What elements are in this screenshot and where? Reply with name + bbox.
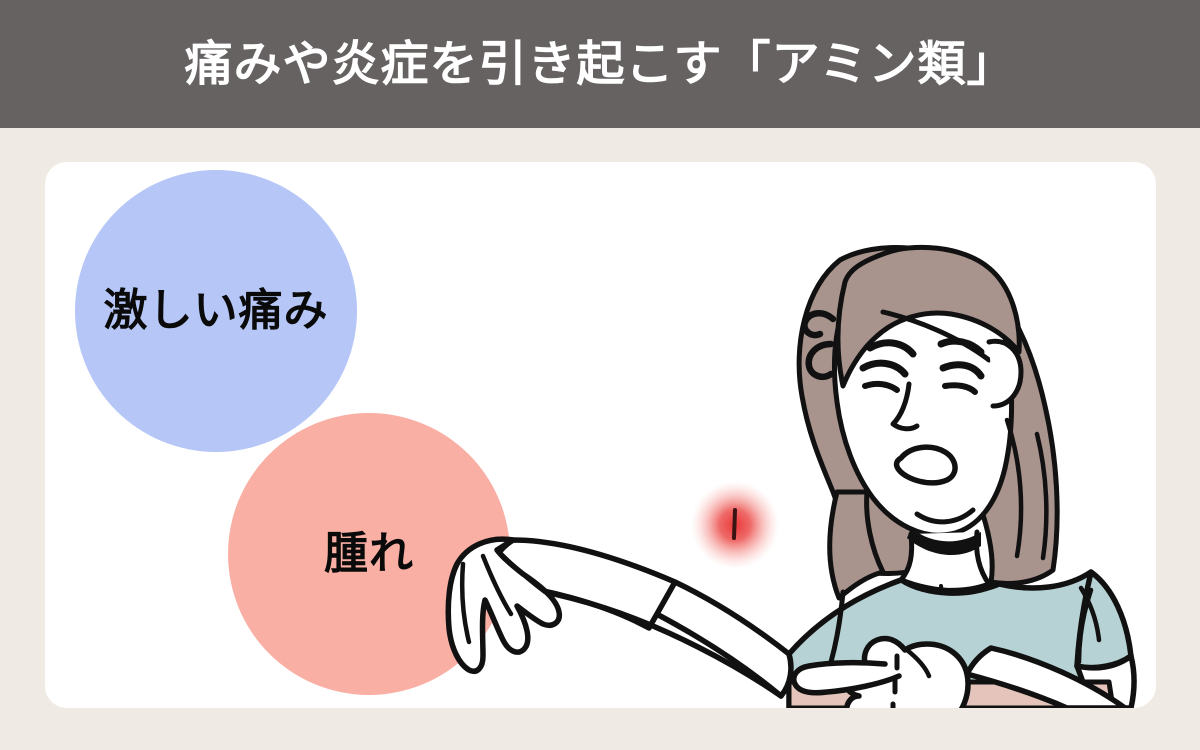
pants-crease: [871, 694, 911, 708]
page-title: 痛みや炎症を引き起こす「アミン類」: [184, 40, 1015, 88]
shoulder-seam-right: [1081, 588, 1099, 640]
ear: [989, 341, 1021, 406]
arm-right: [1077, 656, 1134, 708]
label-bubble-severe-pain-text: 激しい痛み: [104, 289, 329, 333]
hair-fringe: [838, 247, 1019, 386]
arm-left-forearm: [489, 540, 675, 628]
label-bubble-swelling: 腫れ: [228, 413, 510, 695]
neck: [901, 532, 989, 590]
thumb-edge: [907, 650, 929, 676]
sweat-mark-bottom: [809, 344, 831, 377]
arm-left-lower-contour: [489, 582, 781, 696]
hair-back-strand-1: [1007, 420, 1021, 556]
arm-right-forearm: [967, 648, 1125, 708]
hair-strand-sweep: [883, 312, 989, 360]
inflammation-spot: [691, 481, 779, 569]
neck-crease: [941, 586, 943, 618]
eye-crease-left: [865, 384, 897, 390]
face: [834, 264, 1011, 536]
knuckle-dashes: [893, 656, 897, 708]
eyebrow-right: [941, 341, 981, 352]
shirt-collar: [901, 580, 997, 593]
shirt-hem-fold: [831, 592, 843, 662]
page-root: 痛みや炎症を引き起こす「アミン類」 激しい痛み 腫れ: [0, 0, 1200, 750]
illustration-card: 激しい痛み 腫れ: [45, 162, 1156, 708]
arm-left-upper: [649, 582, 791, 696]
hair-back-strand-2: [1037, 434, 1046, 558]
eye-left: [863, 363, 905, 374]
sweat-mark-top: [804, 313, 833, 335]
shirt-sleeve-right-crease: [1079, 590, 1091, 662]
nose: [893, 384, 917, 429]
label-bubble-swelling-text: 腫れ: [324, 532, 414, 576]
pointing-index-finger: [794, 663, 899, 693]
neck-shadow: [907, 528, 981, 555]
sting-mark: [734, 510, 735, 538]
eyebrow-left: [870, 343, 913, 354]
header-bar: 痛みや炎症を引き起こす「アミン類」: [0, 0, 1200, 128]
eye-crease-right: [945, 385, 975, 392]
shirt-sleeve-right: [1077, 572, 1131, 668]
label-bubble-severe-pain: 激しい痛み: [75, 170, 357, 452]
hair-back: [799, 248, 1057, 584]
jaw-line: [917, 510, 973, 522]
mouth: [897, 447, 956, 483]
shirt-body: [789, 572, 1110, 708]
eye-right: [943, 365, 981, 376]
hand-pointing: [845, 638, 968, 708]
pants: [789, 682, 1113, 708]
hair-side-lock: [830, 492, 883, 598]
